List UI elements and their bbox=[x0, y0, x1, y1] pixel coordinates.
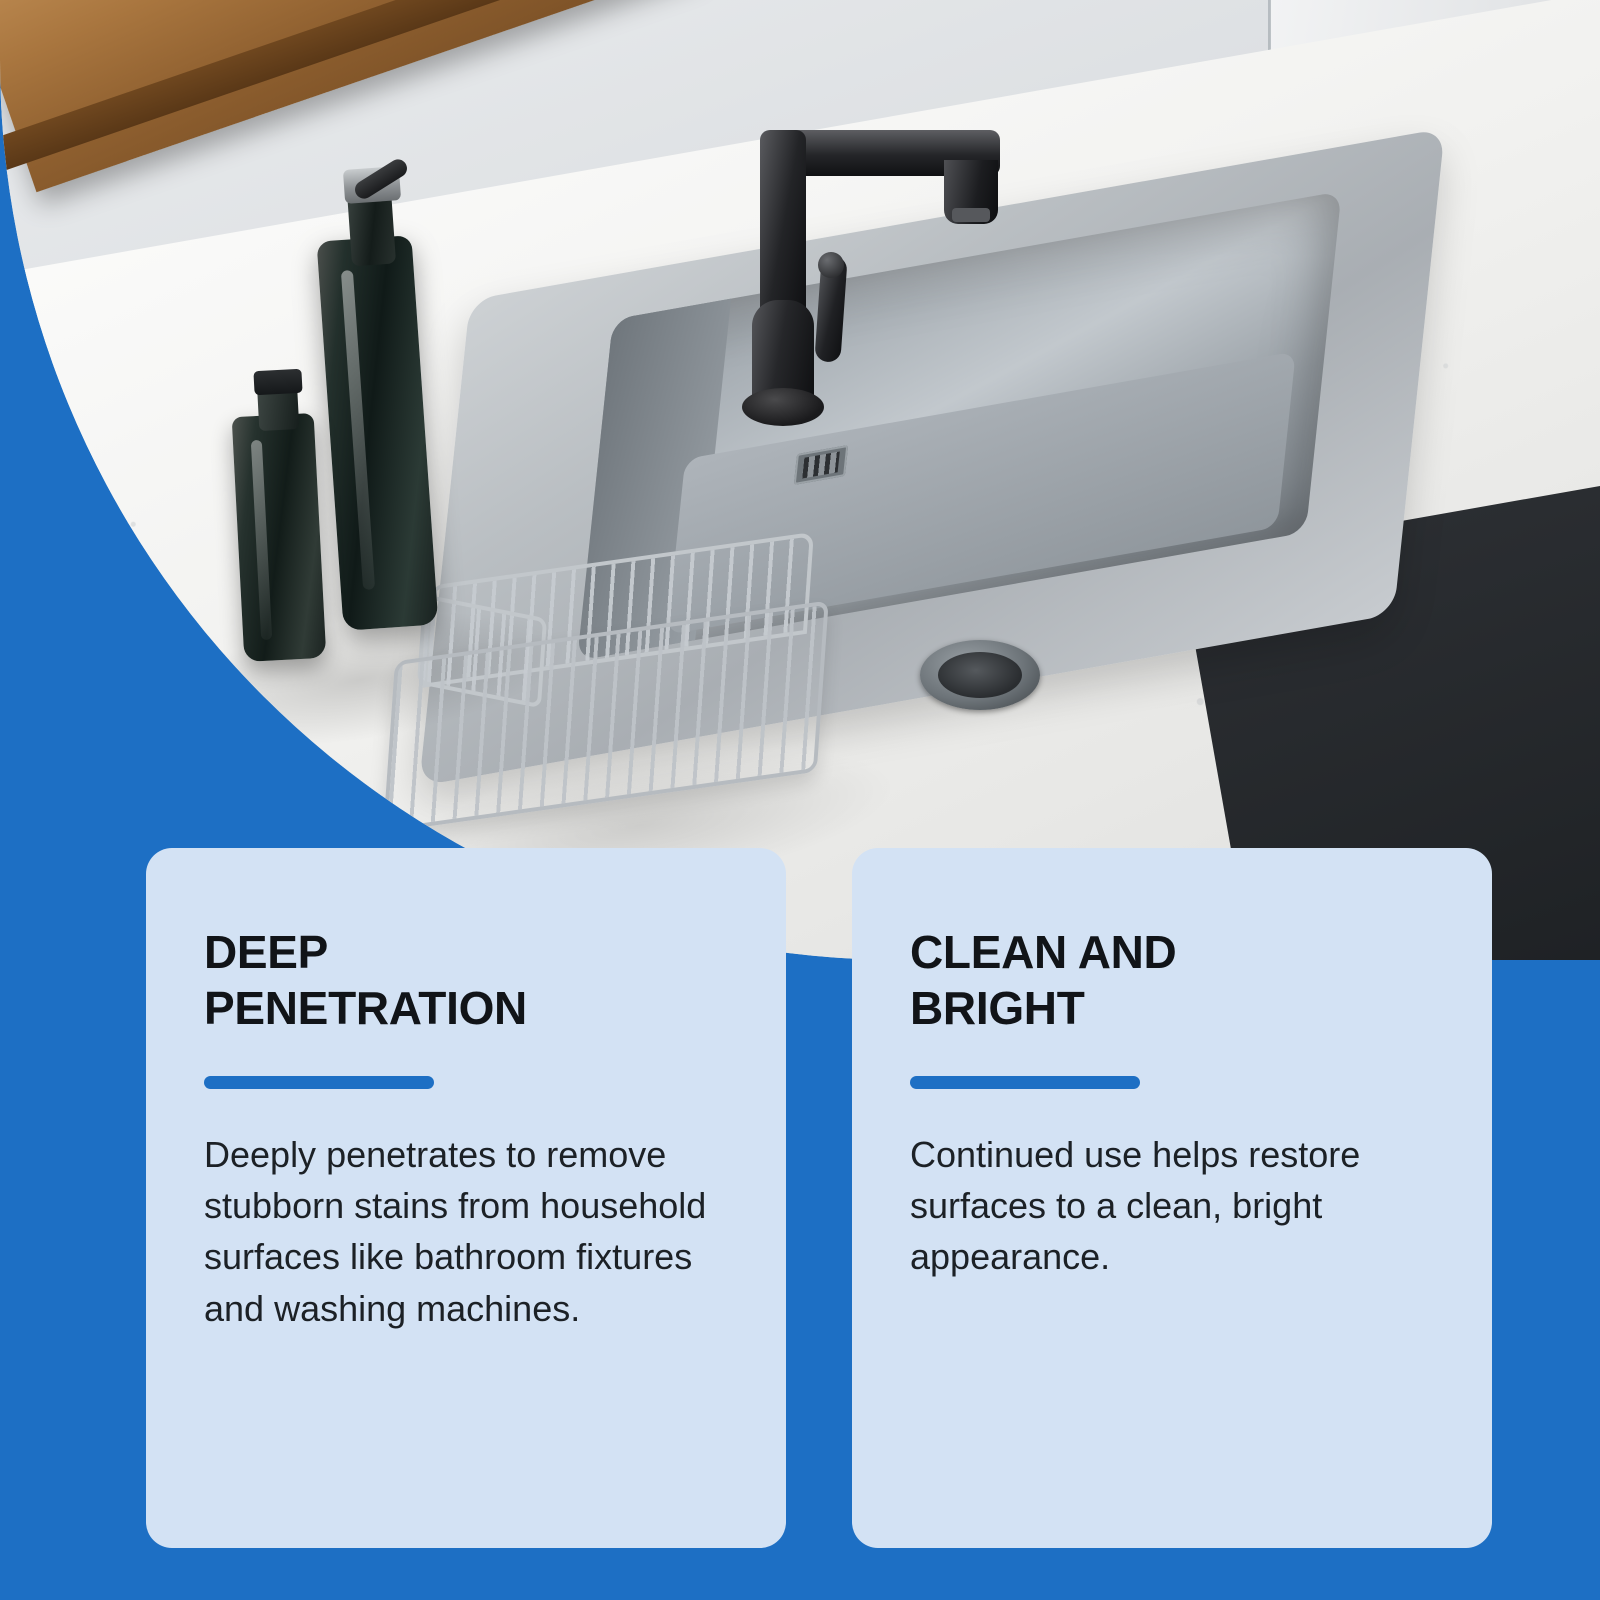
sink-drain-inner bbox=[938, 652, 1022, 698]
feature-card-accent-rule bbox=[910, 1076, 1140, 1089]
product-feature-poster: DEEP PENETRATION Deeply penetrates to re… bbox=[0, 0, 1600, 1600]
faucet-handle-cap bbox=[818, 252, 844, 278]
kitchen-sink-photo bbox=[0, 0, 1600, 960]
sink-drain bbox=[920, 640, 1040, 710]
oil-bottle-short-cap bbox=[253, 369, 302, 395]
oil-bottle-short bbox=[232, 413, 327, 662]
feature-card-title: DEEP PENETRATION bbox=[204, 924, 634, 1036]
feature-card-body: Continued use helps restore surfaces to … bbox=[910, 1129, 1434, 1282]
feature-card-body: Deeply penetrates to remove stubborn sta… bbox=[204, 1129, 728, 1333]
faucet-aerator bbox=[952, 208, 990, 222]
faucet-base bbox=[742, 388, 824, 426]
feature-card-accent-rule bbox=[204, 1076, 434, 1089]
feature-card-clean-and-bright: CLEAN AND BRIGHT Continued use helps res… bbox=[852, 848, 1492, 1548]
feature-card-title: CLEAN AND BRIGHT bbox=[910, 924, 1340, 1036]
feature-card-deep-penetration: DEEP PENETRATION Deeply penetrates to re… bbox=[146, 848, 786, 1548]
